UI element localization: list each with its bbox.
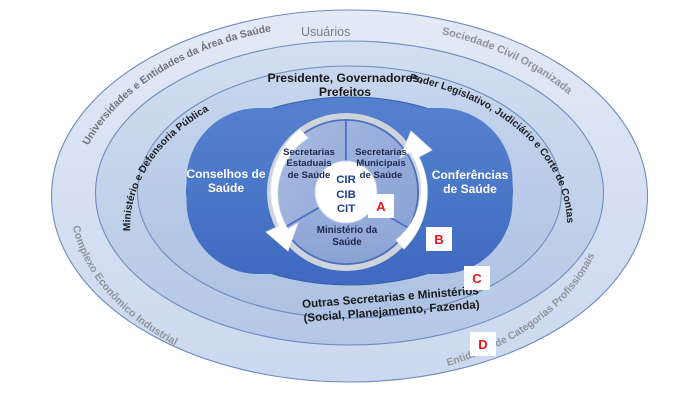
pie-label-secretarias-municipais-line2: Municipais: [356, 158, 406, 169]
ring-outer-label: Usuários: [301, 25, 350, 40]
marker-b: B: [426, 227, 452, 251]
diagram-canvas: Universidades e Entidades da Área da Saú…: [0, 0, 699, 401]
lobe-conselhos-de-saude: Conselhos de Saúde: [178, 167, 274, 196]
lobe-conferencias-de-saude: Conferências de Saúde: [422, 168, 518, 197]
pie-label-ministerio-da-saude-line2: Saúde: [332, 237, 361, 248]
pie-label-secretarias-municipais-line1: Secretarias: [355, 147, 407, 158]
marker-d: D: [470, 332, 496, 356]
pie-label-secretarias-estaduais-line2: Estaduais: [286, 158, 331, 169]
ring-second-label: Presidente, Governadores, Prefeitos: [252, 71, 438, 100]
lobe-conferencias-line2: de Saúde: [443, 182, 497, 196]
pie-label-secretarias-estaduais-line1: Secretarias: [283, 147, 335, 158]
hub-label-cit: CIT: [337, 203, 355, 215]
pie-label-ministerio-da-saude-line1: Ministério da: [317, 225, 377, 236]
marker-c: C: [464, 266, 490, 290]
marker-a: A: [368, 194, 394, 218]
lobe-conferencias-line1: Conferências: [432, 168, 509, 182]
hub-label-cib: CIB: [336, 189, 356, 201]
lobe-conselhos-line1: Conselhos de: [186, 167, 265, 181]
pie-label-ministerio-da-saude: Ministério da Saúde: [307, 225, 387, 248]
hub-label-cir: CIR: [336, 174, 356, 186]
lobe-conselhos-line2: Saúde: [208, 181, 244, 195]
